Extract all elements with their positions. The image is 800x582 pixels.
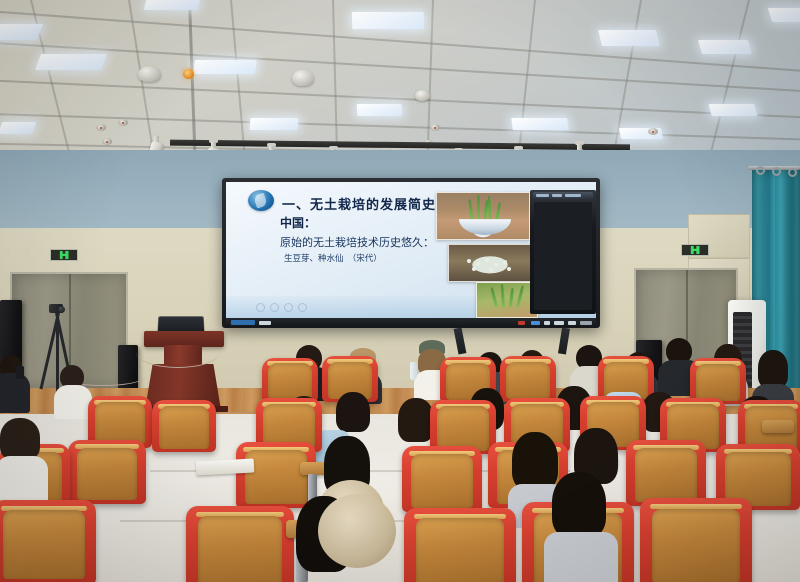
interactive-display-bezel[interactable]: 一、无土栽培的发展简史 中国： 原始的无土栽培技术历史悠久： 生豆芽、种水仙 （… (222, 178, 600, 328)
person-hoodie (544, 532, 618, 582)
ceiling-led-panel (357, 104, 403, 116)
video-conference-stage (534, 202, 592, 310)
ceiling-led-panel (250, 118, 299, 130)
seat-cushion (411, 454, 473, 508)
plant-shoot (500, 284, 504, 307)
ceiling-alarm-strobe (183, 69, 194, 79)
ceiling-led-panel (35, 54, 107, 70)
taskbar-clock[interactable] (568, 321, 576, 325)
ceiling-led-panel (708, 104, 757, 116)
ceiling-led-panel (598, 30, 660, 46)
auditorium-seat[interactable] (152, 400, 216, 452)
sprinkler-head-icon (96, 124, 106, 131)
bean-sprout (507, 267, 511, 271)
bean-sprout (472, 267, 476, 271)
taskbar-battery-icon[interactable] (554, 321, 564, 325)
bean-sprout (489, 268, 493, 272)
bean-sprout (503, 260, 507, 264)
seat-cushion (437, 406, 489, 450)
curtain-grommet (772, 167, 781, 176)
auditorium-seat[interactable] (186, 506, 294, 582)
seat-cushion (416, 518, 503, 582)
sprinkler-head-icon (430, 124, 440, 131)
exit-sign-right (681, 244, 709, 256)
auditorium-seat[interactable] (404, 508, 516, 582)
fur-trimmed-hood (318, 494, 396, 568)
plant-shoot (516, 285, 524, 307)
start-button[interactable] (231, 320, 255, 325)
exit-running-man-icon (691, 246, 700, 254)
ceiling-led-panel (0, 24, 44, 40)
slide-body-line-2: 生豆芽、种水仙 （宋代） (284, 252, 382, 264)
plant-shoot (477, 195, 480, 221)
auditorium-seat[interactable] (500, 356, 556, 402)
sprinkler-head-icon (118, 119, 128, 126)
seat-cushion (77, 448, 138, 501)
recording-indicator-icon (518, 321, 525, 325)
smartphone[interactable] (16, 366, 24, 379)
bean-sprout (476, 262, 480, 266)
plant-shoot (487, 196, 492, 221)
taskbar-app-icon[interactable] (259, 321, 271, 325)
video-conference-panel[interactable] (530, 190, 596, 314)
seat-cushion (95, 402, 145, 445)
person-hair (512, 432, 558, 490)
seat-cushion (635, 448, 697, 502)
taskbar-tray-icon[interactable] (580, 321, 592, 325)
ceiling-led-panel (193, 60, 257, 74)
seat-cushion (245, 450, 307, 504)
auditorium-seat[interactable] (68, 440, 146, 504)
vc-view-item[interactable] (552, 194, 562, 197)
slide-subheading: 中国： (280, 214, 316, 231)
slide-photo-narcissus-bowl (436, 192, 530, 240)
person-hair (758, 350, 788, 388)
seat-cushion (198, 516, 282, 582)
bean-sprout (485, 258, 489, 262)
plant-shoot (490, 287, 497, 307)
seat-cushion (159, 406, 209, 449)
ceiling-led-panel (0, 122, 36, 134)
ceiling-dome-speaker (138, 66, 161, 82)
ceiling-led-panel (511, 118, 568, 130)
seat-cushion (696, 364, 740, 402)
ceiling-led-panel (698, 40, 752, 54)
slide-body-line-1: 原始的无土栽培技术历史悠久： (280, 234, 434, 250)
podium-cable (136, 336, 220, 368)
exit-running-man-icon (60, 251, 69, 259)
vc-participants-item[interactable] (565, 194, 581, 197)
vc-menu-item[interactable] (536, 194, 549, 197)
auditorium-seat[interactable] (236, 442, 316, 508)
bean-sprout (494, 263, 498, 267)
bean-sprout (467, 259, 471, 263)
auditorium-seat[interactable] (402, 446, 482, 512)
ceramic-bowl (459, 219, 511, 235)
auditorium-seat[interactable] (0, 500, 96, 582)
lecture-hall-photo: 一、无土栽培的发展简史 中国： 原始的无土栽培技术历史悠久： 生豆芽、种水仙 （… (0, 0, 800, 582)
slide-photo-sprouting-beans (448, 244, 532, 282)
seat-cushion (3, 510, 84, 579)
auditorium-seat[interactable] (640, 498, 752, 582)
slide-logo-icon (248, 190, 274, 211)
ceiling-led-panel (352, 12, 425, 29)
camera-lens-icon (58, 306, 65, 313)
person-hair (398, 398, 434, 442)
slide-photo-green-shoots (476, 282, 538, 318)
curtain-grommet (788, 168, 797, 177)
taskbar-network-icon[interactable] (531, 321, 540, 325)
ceiling-dome-speaker (292, 70, 314, 86)
plant-shoot (509, 288, 513, 307)
slide-nav-icons[interactable] (256, 303, 307, 312)
water-bottle[interactable] (410, 362, 417, 380)
ceiling-led-panel (768, 8, 800, 22)
curtain-grommet (756, 166, 765, 175)
person-hair (336, 392, 370, 432)
ceiling-led-panel (144, 0, 200, 10)
person-hair (0, 418, 40, 460)
seat-armrest (762, 420, 794, 433)
pen-icon[interactable] (256, 303, 265, 312)
person-torso (54, 385, 92, 419)
seat-cushion (268, 363, 312, 399)
person-hair (552, 472, 606, 538)
plant-shoot (468, 199, 474, 221)
seat-cushion (506, 362, 550, 400)
ceiling-dome-speaker (415, 90, 430, 101)
video-conference-toolbar[interactable] (533, 192, 593, 199)
sprinkler-head-icon (102, 138, 112, 145)
auditorium-seat[interactable] (262, 358, 318, 402)
display-taskbar[interactable] (226, 318, 596, 327)
display-screen[interactable]: 一、无土栽培的发展简史 中国： 原始的无土栽培技术历史悠久： 生豆芽、种水仙 （… (226, 182, 596, 318)
auditorium-seat[interactable] (626, 440, 706, 506)
taskbar-volume-icon[interactable] (544, 321, 550, 325)
exit-sign-left (50, 249, 78, 261)
person-torso (0, 373, 30, 413)
menu-icon[interactable] (284, 303, 293, 312)
slide-heading: 一、无土栽培的发展简史 (282, 194, 436, 213)
prev-slide-icon[interactable] (270, 303, 279, 312)
sprinkler-head-icon (648, 128, 658, 135)
next-slide-icon[interactable] (298, 303, 307, 312)
seat-cushion (652, 509, 739, 582)
